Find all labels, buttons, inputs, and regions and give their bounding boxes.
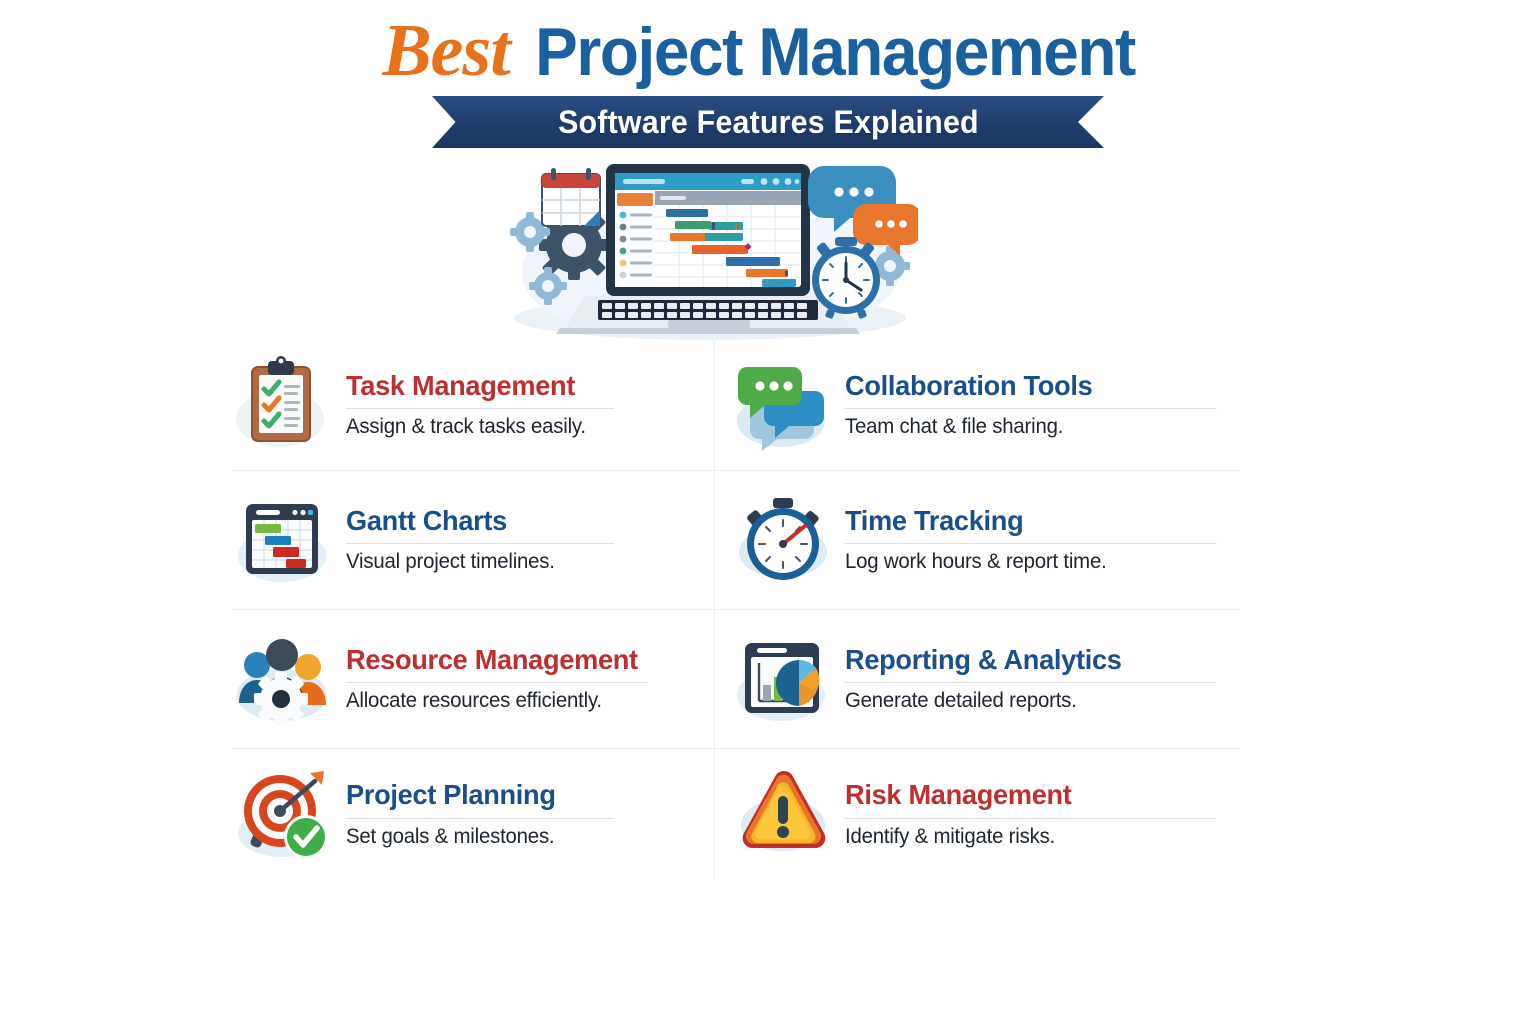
- hero-illustration: [498, 152, 918, 344]
- ribbon-label: Software Features Explained: [558, 104, 979, 141]
- feature-gantt-charts[interactable]: Gantt Charts Visual project timelines.: [232, 471, 714, 609]
- feature-title: Project Planning: [346, 780, 556, 811]
- features-grid: Task Management Assign & track tasks eas…: [232, 340, 1240, 880]
- feature-title: Risk Management: [845, 780, 1072, 811]
- subtitle-ribbon: Software Features Explained: [0, 96, 1536, 148]
- feature-text: Project Planning Set goals & milestones.: [346, 780, 710, 849]
- feature-description: Set goals & milestones.: [346, 825, 554, 849]
- feature-description: Generate detailed reports.: [845, 689, 1077, 713]
- feature-risk-management[interactable]: Risk Management Identify & mitigate risk…: [715, 749, 1240, 880]
- infographic-canvas: BestProject Management Software Features…: [0, 0, 1536, 1024]
- feature-project-planning[interactable]: Project Planning Set goals & milestones.: [232, 749, 714, 880]
- feature-title: Reporting & Analytics: [845, 645, 1122, 676]
- clipboard-checklist-icon: [232, 353, 336, 457]
- feature-description: Identify & mitigate risks.: [845, 825, 1055, 849]
- feature-title: Collaboration Tools: [845, 371, 1092, 402]
- title-main-words: Project Management: [535, 18, 1135, 86]
- feature-title: Resource Management: [346, 645, 638, 676]
- feature-time-tracking[interactable]: Time Tracking Log work hours & report ti…: [715, 471, 1240, 609]
- ribbon-shape: Software Features Explained: [432, 96, 1104, 148]
- feature-title: Task Management: [346, 371, 575, 402]
- feature-task-management[interactable]: Task Management Assign & track tasks eas…: [232, 340, 714, 470]
- gantt-window-icon: [232, 488, 336, 592]
- feature-description: Log work hours & report time.: [845, 550, 1107, 574]
- title-accent-word: Best: [382, 10, 516, 92]
- title-underline: [346, 682, 648, 683]
- feature-text: Time Tracking Log work hours & report ti…: [845, 506, 1236, 575]
- speech-bubbles-icon: [731, 353, 835, 457]
- feature-description: Allocate resources efficiently.: [346, 689, 602, 713]
- charts-window-icon: [731, 627, 835, 731]
- feature-text: Collaboration Tools Team chat & file sha…: [845, 371, 1236, 440]
- title-underline: [845, 408, 1217, 409]
- feature-description: Team chat & file sharing.: [845, 415, 1063, 439]
- warning-triangle-icon: [731, 763, 835, 867]
- target-arrow-check-icon: [232, 763, 336, 867]
- page-title: BestProject Management: [0, 14, 1536, 88]
- feature-text: Resource Management Allocate resources e…: [346, 645, 710, 714]
- feature-text: Risk Management Identify & mitigate risk…: [845, 780, 1236, 849]
- feature-text: Task Management Assign & track tasks eas…: [346, 371, 710, 440]
- title-underline: [346, 818, 614, 819]
- feature-title: Gantt Charts: [346, 506, 507, 537]
- people-gear-icon: [232, 627, 336, 731]
- feature-text: Reporting & Analytics Generate detailed …: [845, 645, 1236, 714]
- feature-description: Visual project timelines.: [346, 550, 555, 574]
- feature-resource-management[interactable]: Resource Management Allocate resources e…: [232, 610, 714, 748]
- title-underline: [845, 818, 1217, 819]
- title-underline: [346, 408, 614, 409]
- title-underline: [845, 682, 1217, 683]
- feature-reporting-analytics[interactable]: Reporting & Analytics Generate detailed …: [715, 610, 1240, 748]
- feature-collaboration-tools[interactable]: Collaboration Tools Team chat & file sha…: [715, 340, 1240, 470]
- title-underline: [845, 543, 1217, 544]
- feature-title: Time Tracking: [845, 506, 1023, 537]
- feature-description: Assign & track tasks easily.: [346, 415, 586, 439]
- feature-text: Gantt Charts Visual project timelines.: [346, 506, 710, 575]
- title-underline: [346, 543, 614, 544]
- calendar-icon: [542, 168, 600, 226]
- stopwatch-icon: [731, 488, 835, 592]
